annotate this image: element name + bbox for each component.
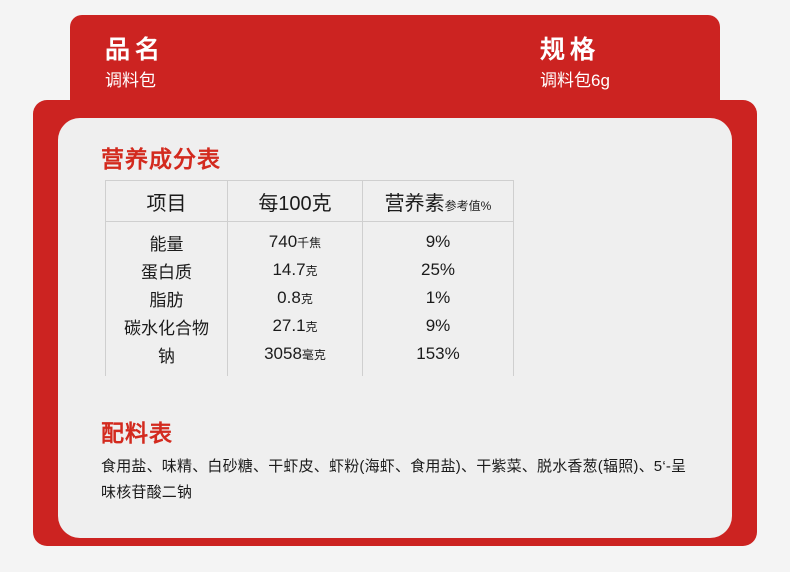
nutrition-table-head: 项目 每100克 营养素参考值% bbox=[106, 181, 514, 222]
row-amount-unit: 克 bbox=[306, 320, 318, 334]
product-header-content: 品名 调料包 规格 调料包6g bbox=[70, 15, 720, 120]
row-nrv: 9% bbox=[363, 312, 514, 340]
content-card-body: 营养成分表 项目 每100克 营养素参考值% bbox=[58, 118, 732, 538]
row-item-name: 蛋白质 bbox=[106, 256, 228, 284]
specification-title: 规格 bbox=[540, 37, 610, 65]
row-amount-unit: 千焦 bbox=[297, 236, 321, 250]
row-amount: 27.1克 bbox=[228, 312, 363, 340]
table-row: 能量 740千焦 9% bbox=[106, 222, 514, 257]
column-header-nrv: 营养素参考值% bbox=[363, 181, 514, 222]
nutrition-table-body: 能量 740千焦 9% 蛋白质 14.7克 25% 脂肪 0.8克 1% bbox=[106, 222, 514, 377]
row-amount: 740千焦 bbox=[228, 222, 363, 257]
row-amount-value: 740 bbox=[269, 232, 297, 251]
content-card: 营养成分表 项目 每100克 营养素参考值% bbox=[58, 118, 732, 538]
row-amount-unit: 克 bbox=[306, 264, 318, 278]
ingredients-heading: 配料表 bbox=[101, 414, 173, 448]
row-nrv: 25% bbox=[363, 256, 514, 284]
row-amount-value: 14.7 bbox=[272, 260, 305, 279]
nutrition-facts-heading: 营养成分表 bbox=[101, 140, 221, 174]
column-header-item: 项目 bbox=[106, 181, 228, 222]
row-amount-unit: 毫克 bbox=[302, 348, 326, 362]
column-header-item-label: 项目 bbox=[147, 193, 187, 215]
table-row: 碳水化合物 27.1克 9% bbox=[106, 312, 514, 340]
row-item-name: 钠 bbox=[106, 340, 228, 376]
header-column-product-name: 品名 调料包 bbox=[105, 37, 165, 91]
row-item-name: 脂肪 bbox=[106, 284, 228, 312]
row-amount-unit: 克 bbox=[301, 292, 313, 306]
row-amount: 3058毫克 bbox=[228, 340, 363, 376]
table-row: 钠 3058毫克 153% bbox=[106, 340, 514, 376]
row-nrv: 153% bbox=[363, 340, 514, 376]
row-amount: 14.7克 bbox=[228, 256, 363, 284]
row-amount-value: 27.1 bbox=[272, 316, 305, 335]
column-header-nrv-sublabel: 参考值% bbox=[445, 199, 492, 213]
column-header-per-100g-label: 每100克 bbox=[258, 193, 331, 215]
row-amount: 0.8克 bbox=[228, 284, 363, 312]
product-header-band: 品名 调料包 规格 调料包6g bbox=[70, 15, 720, 120]
row-amount-value: 0.8 bbox=[277, 288, 301, 307]
row-nrv: 9% bbox=[363, 222, 514, 257]
ingredients-text: 食用盐、味精、白砂糖、干虾皮、虾粉(海虾、食用盐)、干紫菜、脱水香葱(辐照)、5… bbox=[101, 454, 701, 507]
column-header-per-100g: 每100克 bbox=[228, 181, 363, 222]
row-amount-value: 3058 bbox=[264, 344, 302, 363]
header-column-specification: 规格 调料包6g bbox=[540, 37, 610, 91]
row-nrv: 1% bbox=[363, 284, 514, 312]
nutrition-label-panel: 品名 调料包 规格 调料包6g 营养成分表 项目 bbox=[0, 0, 790, 572]
specification-value: 调料包6g bbox=[540, 71, 610, 91]
table-row: 脂肪 0.8克 1% bbox=[106, 284, 514, 312]
nutrition-table-header-row: 项目 每100克 营养素参考值% bbox=[106, 181, 514, 222]
product-name-title: 品名 bbox=[105, 37, 165, 65]
row-item-name: 碳水化合物 bbox=[106, 312, 228, 340]
product-name-value: 调料包 bbox=[105, 71, 165, 91]
row-item-name: 能量 bbox=[106, 222, 228, 257]
table-row: 蛋白质 14.7克 25% bbox=[106, 256, 514, 284]
column-header-nrv-label: 营养素 bbox=[385, 193, 445, 215]
nutrition-facts-table: 项目 每100克 营养素参考值% 能量 740千焦 9% bbox=[105, 180, 514, 376]
